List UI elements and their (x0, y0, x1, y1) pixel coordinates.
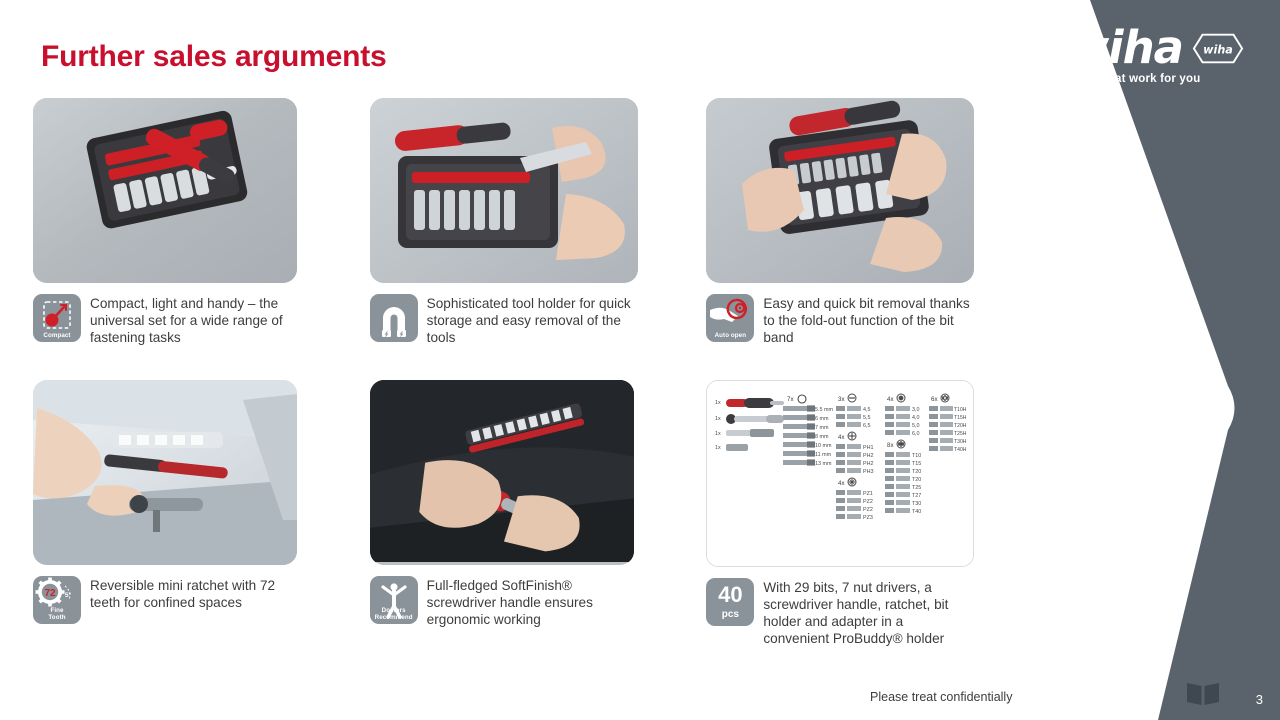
feature-caption-auto-open: Auto open Easy and quick bit removal tha… (706, 294, 1010, 347)
photo-softfinish-art (370, 380, 634, 562)
svg-text:T25: T25 (912, 485, 921, 491)
pieces-count-unit: pcs (706, 609, 754, 620)
page-number: 3 (1256, 692, 1263, 707)
doctors-recommend-icon: DoctorsRecommend (370, 576, 418, 624)
svg-text:4x: 4x (887, 396, 894, 403)
svg-text:1x: 1x (715, 416, 721, 422)
feature-caption-compact: Compact Compact, light and handy – the u… (33, 294, 337, 347)
contents-diagram-art: 1x 1x 1x 1x (707, 381, 973, 566)
svg-text:wiha: wiha (1203, 43, 1233, 56)
feature-card-softfinish: DoctorsRecommend Full-fledged SoftFinish… (337, 380, 674, 648)
right-decorative-band (998, 0, 1280, 720)
fine-tooth-gear-icon: 72 5° FineTooth (33, 576, 81, 624)
fine-tooth-angle-value: 5° (65, 591, 72, 599)
page-title: Further sales arguments (41, 40, 387, 74)
brand-tagline: Tools that work for you (1068, 73, 1244, 85)
feature-card-contents: 1x 1x 1x 1x (673, 380, 1010, 648)
svg-text:10 mm: 10 mm (815, 443, 832, 449)
svg-text:T20: T20 (912, 469, 921, 475)
svg-text:T30H: T30H (954, 439, 967, 445)
svg-text:T40: T40 (912, 509, 921, 515)
feature-caption-tool-holder: Sophisticated tool holder for quick stor… (370, 294, 674, 347)
svg-text:1x: 1x (715, 445, 721, 451)
feature-text-auto-open: Easy and quick bit removal thanks to the… (763, 294, 973, 347)
pieces-count-badge: 40 pcs (706, 578, 754, 626)
svg-text:PZ2: PZ2 (863, 499, 873, 505)
svg-text:T15H: T15H (954, 415, 967, 421)
svg-text:11 mm: 11 mm (815, 452, 832, 458)
svg-text:5,5: 5,5 (863, 415, 871, 421)
fine-tooth-teeth-value: 72 (44, 588, 56, 599)
svg-text:5.5 mm: 5.5 mm (815, 407, 833, 413)
feature-card-fine-tooth: 72 5° FineTooth Reversible mini ratchet … (0, 380, 337, 648)
svg-text:T15: T15 (912, 461, 921, 467)
svg-text:8x: 8x (887, 442, 894, 449)
svg-text:4,5: 4,5 (863, 407, 871, 413)
svg-text:T20H: T20H (954, 423, 967, 429)
svg-text:4,0: 4,0 (912, 415, 920, 421)
svg-text:PH2: PH2 (863, 461, 874, 467)
svg-text:PZ2: PZ2 (863, 507, 873, 513)
feature-text-fine-tooth: Reversible mini ratchet with 72 teeth fo… (90, 576, 295, 611)
svg-text:PH3: PH3 (863, 469, 874, 475)
svg-text:3x: 3x (838, 396, 845, 403)
svg-text:T10H: T10H (954, 407, 967, 413)
feature-text-contents: With 29 bits, 7 nut drivers, a screwdriv… (763, 578, 968, 648)
feature-photo-auto-open (706, 98, 974, 283)
book-icon (1186, 680, 1220, 706)
feature-photo-fine-tooth (33, 380, 297, 565)
svg-text:6,5: 6,5 (863, 423, 871, 429)
brand-logo: wiha wiha Tools that work for you (1068, 26, 1244, 85)
feature-text-compact: Compact, light and handy – the universal… (90, 294, 295, 347)
confidentiality-note: Please treat confidentially (870, 690, 1012, 704)
svg-text:T20: T20 (912, 477, 921, 483)
svg-text:7x: 7x (787, 396, 794, 403)
feature-card-tool-holder: Sophisticated tool holder for quick stor… (337, 98, 674, 347)
svg-text:T25H: T25H (954, 431, 967, 437)
svg-text:6x: 6x (931, 396, 938, 403)
svg-text:PH2: PH2 (863, 453, 874, 459)
photo-tool-holder-art (370, 98, 638, 283)
feature-photo-softfinish (370, 380, 634, 565)
svg-text:3,0: 3,0 (912, 407, 920, 413)
pieces-count-value: 40 (706, 583, 754, 607)
brand-hex-icon: wiha (1192, 33, 1244, 64)
contents-diagram-panel: 1x 1x 1x 1x (706, 380, 974, 567)
doctors-recommend-badge-label: DoctorsRecommend (370, 607, 418, 621)
photo-compact-art (33, 98, 297, 283)
feature-photo-tool-holder (370, 98, 638, 283)
svg-text:1x: 1x (715, 431, 721, 437)
feature-row-1: Compact Compact, light and handy – the u… (0, 98, 1010, 347)
fine-tooth-badge-label: FineTooth (33, 607, 81, 621)
feature-text-tool-holder: Sophisticated tool holder for quick stor… (427, 294, 632, 347)
svg-text:6,0: 6,0 (912, 431, 920, 437)
compact-badge-label: Compact (33, 332, 81, 339)
feature-caption-softfinish: DoctorsRecommend Full-fledged SoftFinish… (370, 576, 674, 629)
magnet-icon (370, 294, 418, 342)
svg-text:T30: T30 (912, 501, 921, 507)
svg-text:8 mm: 8 mm (815, 434, 829, 440)
svg-text:PZ1: PZ1 (863, 491, 873, 497)
brand-wordmark: wiha (1068, 26, 1183, 70)
svg-text:PZ3: PZ3 (863, 515, 873, 521)
svg-text:4x: 4x (838, 480, 845, 487)
svg-text:4x: 4x (838, 434, 845, 441)
compact-badge-icon: Compact (33, 294, 81, 342)
svg-text:T10: T10 (912, 453, 921, 459)
feature-caption-contents: 40 pcs With 29 bits, 7 nut drivers, a sc… (706, 578, 1010, 648)
svg-text:1x: 1x (715, 400, 721, 406)
svg-text:T27: T27 (912, 493, 921, 499)
feature-photo-compact (33, 98, 297, 283)
feature-card-compact: Compact Compact, light and handy – the u… (0, 98, 337, 347)
photo-fine-tooth-art (33, 380, 297, 565)
svg-text:13 mm: 13 mm (815, 461, 832, 467)
svg-text:6 mm: 6 mm (815, 416, 829, 422)
svg-text:PH1: PH1 (863, 445, 874, 451)
auto-open-badge-label: Auto open (706, 332, 754, 339)
svg-text:T40H: T40H (954, 447, 967, 453)
svg-text:7 mm: 7 mm (815, 425, 829, 431)
feature-grid: Compact Compact, light and handy – the u… (0, 98, 1010, 647)
photo-auto-open-art (706, 98, 974, 283)
feature-text-softfinish: Full-fledged SoftFinish® screwdriver han… (427, 576, 632, 629)
auto-open-icon: Auto open (706, 294, 754, 342)
svg-text:5,0: 5,0 (912, 423, 920, 429)
slide-root: wiha wiha Tools that work for you Furthe… (0, 0, 1280, 720)
feature-card-auto-open: Auto open Easy and quick bit removal tha… (673, 98, 1010, 347)
feature-caption-fine-tooth: 72 5° FineTooth Reversible mini ratchet … (33, 576, 337, 624)
feature-row-2: 72 5° FineTooth Reversible mini ratchet … (0, 380, 1010, 648)
